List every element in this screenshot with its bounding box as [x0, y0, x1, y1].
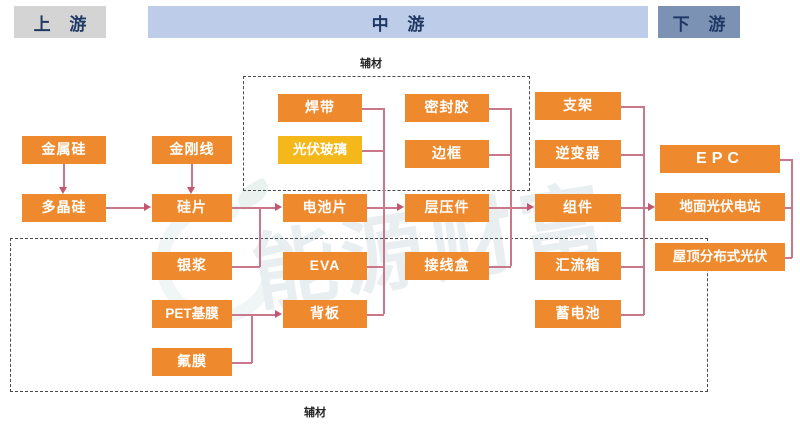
arrowhead-polysi-to-wafer [144, 203, 151, 211]
connector-inverter-h [621, 154, 644, 156]
band-midstream: 中 游 [148, 6, 648, 38]
node-eva-film[interactable]: EVA [283, 252, 367, 280]
node-laminate[interactable]: 层压件 [405, 194, 489, 222]
connector-module-to-station [621, 207, 649, 209]
connector-bos-bus-vertical [643, 106, 645, 315]
band-downstream: 下 游 [658, 6, 740, 38]
node-silicon-wafer[interactable]: 硅片 [152, 194, 232, 222]
node-inverter[interactable]: 逆变器 [535, 140, 621, 168]
node-solder-ribbon[interactable]: 焊带 [278, 94, 362, 122]
node-sealant[interactable]: 密封胶 [405, 94, 489, 122]
connector-junctionbox-h [489, 266, 511, 268]
connector-right-aux-bus-vertical [510, 108, 512, 266]
node-storage-battery[interactable]: 蓄电池 [535, 300, 621, 328]
node-silver-paste[interactable]: 银浆 [152, 252, 232, 280]
connector-diamondwire-to-wafer [191, 164, 193, 188]
group-label-aux-top: 辅材 [360, 55, 382, 71]
connector-frame-h [489, 154, 511, 156]
arrowhead-module-to-station [648, 203, 655, 211]
node-fluorine-film[interactable]: 氟膜 [152, 348, 232, 376]
node-mounting-bracket[interactable]: 支架 [535, 92, 621, 120]
node-back-sheet[interactable]: 背板 [283, 300, 367, 328]
connector-solder-h [362, 108, 384, 110]
node-metal-silicon[interactable]: 金属硅 [22, 136, 106, 164]
connector-metalsi-to-polysi [63, 164, 65, 188]
band-midstream-label: 中 游 [365, 10, 432, 35]
node-diamond-wire[interactable]: 金刚线 [152, 136, 232, 164]
node-junction-box[interactable]: 接线盒 [405, 252, 489, 280]
node-epc[interactable]: EPC [660, 145, 780, 173]
node-ground-pv-station[interactable]: 地面光伏电站 [655, 193, 785, 221]
node-module[interactable]: 组件 [535, 194, 621, 222]
node-rooftop-distributed-pv[interactable]: 屋顶分布式光伏 [655, 243, 785, 271]
connector-eva-h [367, 266, 384, 268]
arrowhead-metalsi-to-polysi [59, 187, 67, 194]
arrowhead-wafer-to-cell [275, 203, 282, 211]
connector-backsheet-h [367, 314, 384, 316]
diagram-canvas: 能源财富 上 游 中 游 下 游 辅材 辅材 [0, 0, 800, 434]
node-polysilicon[interactable]: 多晶硅 [22, 194, 106, 222]
band-upstream: 上 游 [14, 6, 106, 38]
connector-pet-to-backsheet [232, 314, 276, 316]
connector-polysi-to-wafer [106, 207, 145, 209]
arrowhead-laminate-to-module [527, 203, 534, 211]
connector-aux-bus-vertical [383, 108, 385, 314]
node-pet-base-film[interactable]: PET基膜 [152, 300, 232, 328]
band-downstream-label: 下 游 [666, 10, 733, 35]
arrowhead-diamondwire-to-wafer [187, 187, 195, 194]
connector-battery-h [621, 314, 644, 316]
node-solar-cell[interactable]: 电池片 [283, 194, 367, 222]
connector-cell-to-laminate [367, 207, 398, 209]
band-upstream-label: 上 游 [27, 10, 94, 35]
node-combiner-box[interactable]: 汇流箱 [535, 252, 621, 280]
connector-pvglass-h [362, 150, 384, 152]
connector-silverpaste-v [259, 207, 261, 267]
connector-fluorofilm-h [232, 362, 252, 364]
node-frame[interactable]: 边框 [405, 140, 489, 168]
connector-silverpaste-h [232, 266, 260, 268]
connector-sealant-h [489, 108, 511, 110]
connector-bracket-h [621, 106, 644, 108]
group-label-aux-bottom: 辅材 [304, 404, 326, 420]
arrowhead-pet-to-backsheet [275, 310, 282, 318]
connector-fluorofilm-v [251, 314, 253, 363]
connector-wafer-to-cell [232, 207, 276, 209]
node-pv-glass[interactable]: 光伏玻璃 [278, 136, 362, 164]
connector-laminate-to-module [489, 207, 528, 209]
arrowhead-cell-to-laminate [397, 203, 404, 211]
connector-combiner-h [621, 266, 644, 268]
connector-downstream-bus-vertical [791, 159, 793, 258]
